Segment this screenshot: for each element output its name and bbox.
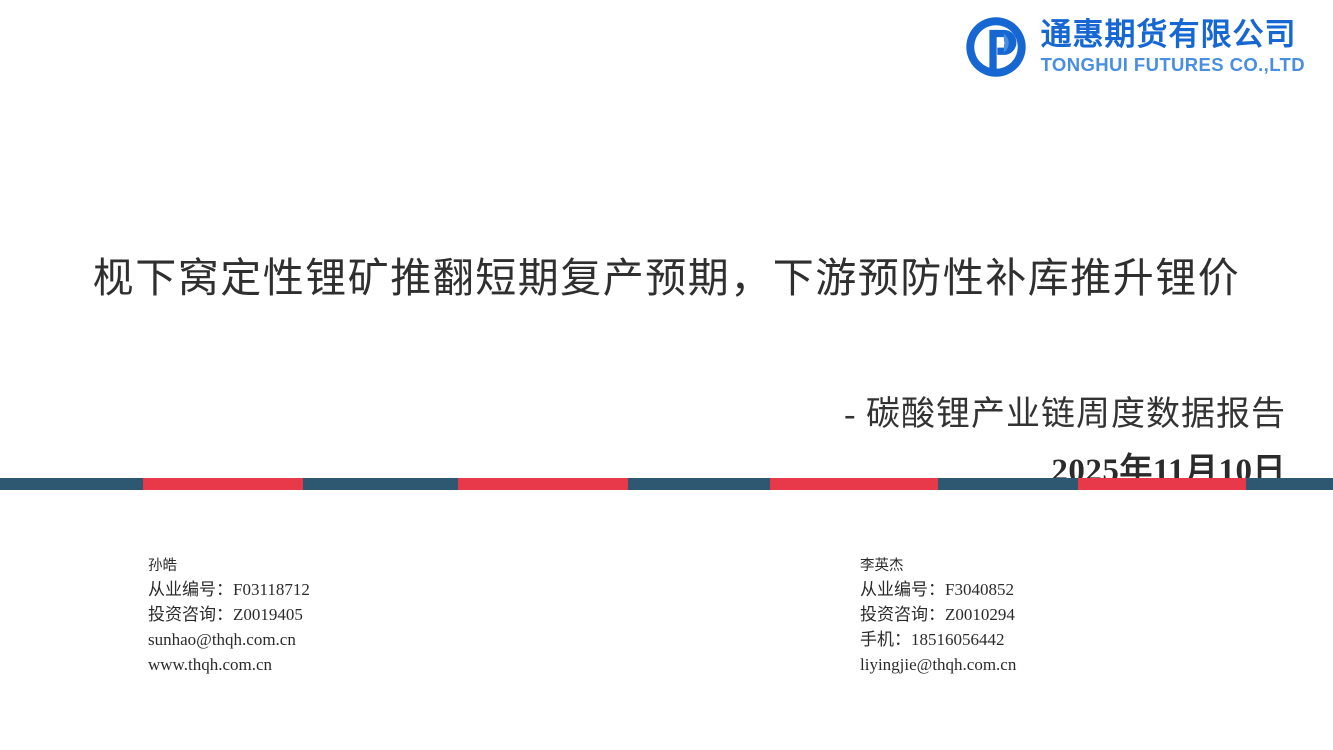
report-subtitle-group: - 碳酸锂产业链周度数据报告 2025年11月10日	[844, 386, 1286, 491]
contact-detail-line-3: 手机：18516056442	[860, 627, 1016, 652]
contact-detail-line-4[interactable]: liyingjie@thqh.com.cn	[860, 652, 1016, 677]
contact-detail-line-2: 投资咨询：Z0010294	[860, 602, 1016, 627]
divider-segment-5	[770, 478, 938, 490]
contact-detail-line-1: 从业编号：F3040852	[860, 577, 1016, 602]
divider-segment-4	[628, 478, 770, 490]
company-name-en: TONGHUI FUTURES CO.,LTD	[1041, 56, 1305, 75]
report-subtitle: - 碳酸锂产业链周度数据报告	[844, 386, 1286, 435]
divider-segment-0	[0, 478, 143, 490]
company-brand-header: 通惠期货有限公司 TONGHUI FUTURES CO.,LTD	[963, 14, 1305, 80]
divider-segment-8	[1246, 478, 1333, 490]
divider-segment-1	[143, 478, 303, 490]
contact-block-2: 李英杰从业编号：F3040852投资咨询：Z0010294手机：18516056…	[860, 556, 1016, 678]
contact-person-name: 李英杰	[860, 556, 1016, 577]
divider-segment-7	[1078, 478, 1246, 490]
contact-detail-line-1: 从业编号：F03118712	[148, 577, 310, 602]
brand-text-group: 通惠期货有限公司 TONGHUI FUTURES CO.,LTD	[1041, 19, 1305, 75]
decorative-divider-bar	[0, 478, 1333, 490]
contact-detail-line-2: 投资咨询：Z0019405	[148, 602, 310, 627]
contact-detail-line-4[interactable]: www.thqh.com.cn	[148, 652, 310, 677]
divider-segment-6	[938, 478, 1078, 490]
company-name-cn: 通惠期货有限公司	[1041, 19, 1305, 50]
tonghui-logo-icon	[963, 14, 1029, 80]
contact-block-1: 孙皓从业编号：F03118712投资咨询：Z0019405sunhao@thqh…	[148, 556, 310, 678]
divider-segment-3	[458, 478, 628, 490]
contact-person-name: 孙皓	[148, 556, 310, 577]
report-title: 枧下窝定性锂矿推翻短期复产预期，下游预防性补库推升锂价	[0, 244, 1333, 304]
contact-detail-line-3[interactable]: sunhao@thqh.com.cn	[148, 627, 310, 652]
divider-segment-2	[303, 478, 458, 490]
contacts-footer: 孙皓从业编号：F03118712投资咨询：Z0019405sunhao@thqh…	[0, 556, 1333, 696]
